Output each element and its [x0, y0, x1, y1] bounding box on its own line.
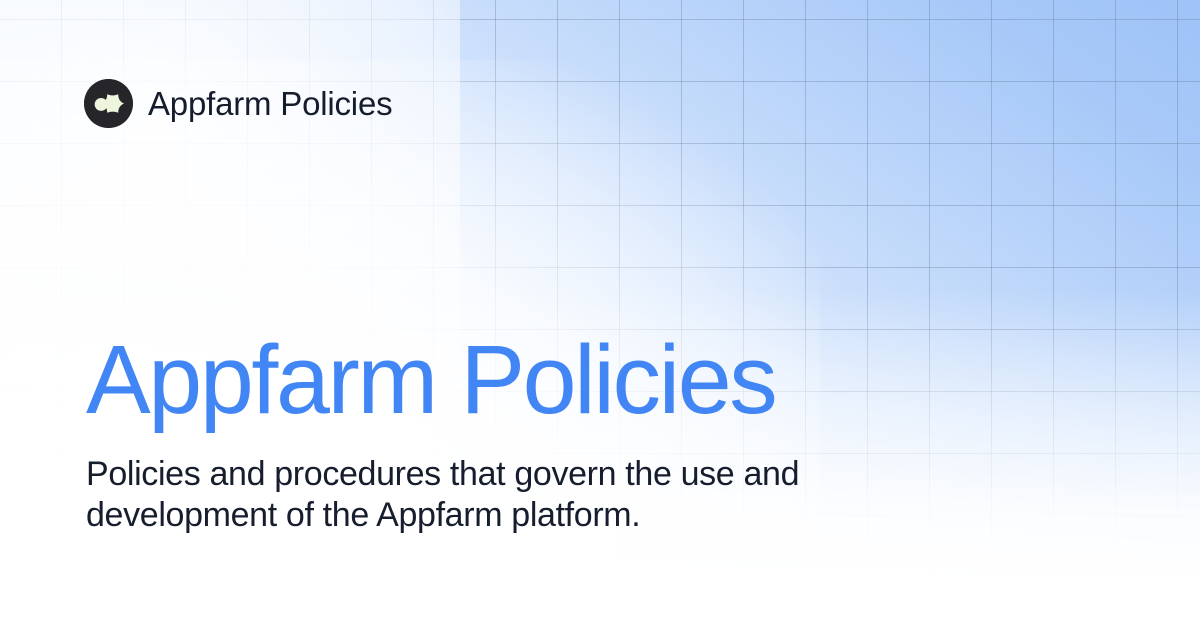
hero-block: Appfarm Policies Policies and procedures…	[86, 331, 1086, 537]
card-content: Appfarm Policies Appfarm Policies Polici…	[0, 0, 1200, 630]
page-title: Appfarm Policies	[86, 331, 1086, 428]
appfarm-logo-icon	[84, 79, 133, 128]
brand-header: Appfarm Policies	[84, 79, 392, 128]
page-subtitle: Policies and procedures that govern the …	[86, 454, 856, 537]
brand-name: Appfarm Policies	[148, 87, 392, 120]
og-card: Appfarm Policies Appfarm Policies Polici…	[0, 0, 1200, 630]
